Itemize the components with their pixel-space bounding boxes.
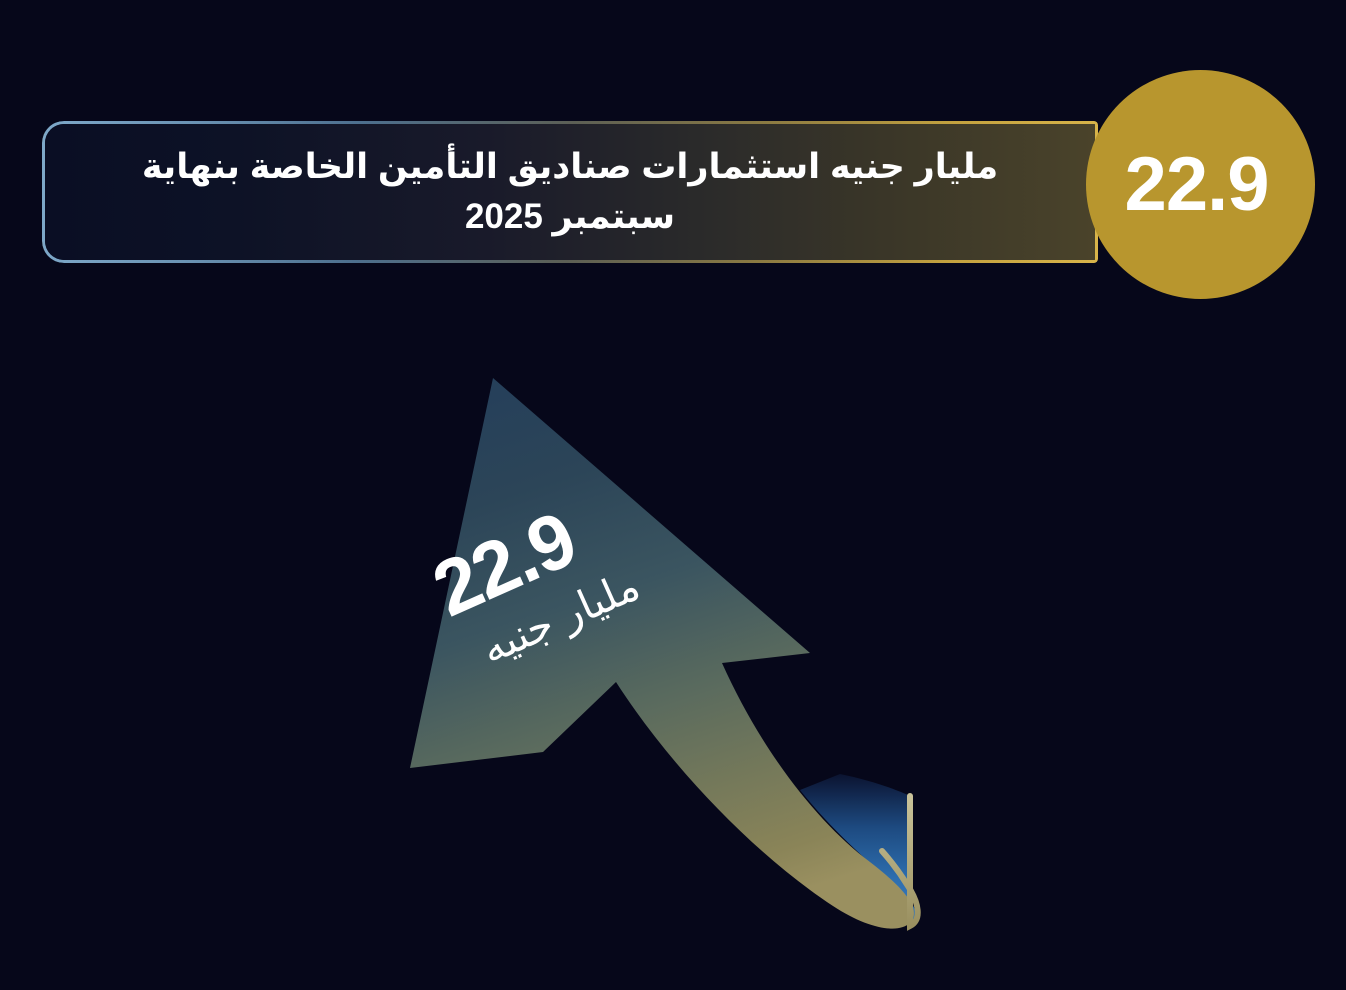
value-badge-circle: 22.9 [1086, 70, 1315, 299]
page-title-line-2: سبتمبر 2025 [465, 195, 675, 239]
value-badge-label: 22.9 [1125, 141, 1269, 228]
arrow-ribbon-body [410, 378, 914, 929]
page-title: مليار جنيه استثمارات صناديق التأمين الخا… [42, 121, 1098, 263]
curved-up-arrow-icon [370, 360, 970, 940]
page-title-line-1: مليار جنيه استثمارات صناديق التأمين الخا… [142, 145, 998, 189]
infographic-canvas: مليار جنيه استثمارات صناديق التأمين الخا… [0, 0, 1346, 990]
